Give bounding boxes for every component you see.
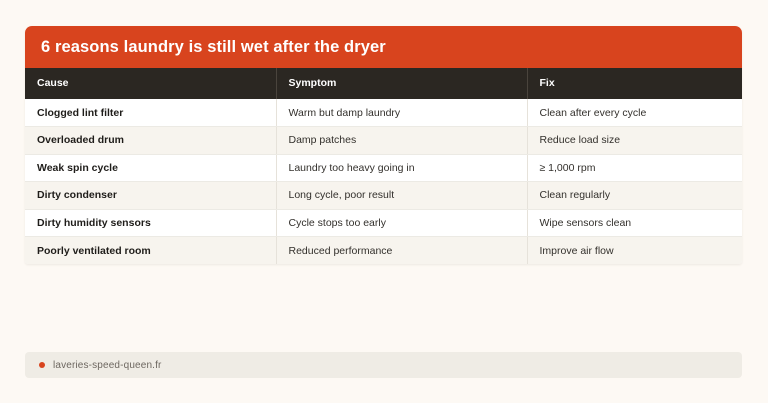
cell-cause: Clogged lint filter xyxy=(25,99,276,127)
cell-cause: Weak spin cycle xyxy=(25,154,276,182)
cell-fix: Clean regularly xyxy=(527,182,742,210)
cell-symptom: Laundry too heavy going in xyxy=(276,154,527,182)
table-row: Dirty condenser Long cycle, poor result … xyxy=(25,182,742,210)
table-row: Poorly ventilated room Reduced performan… xyxy=(25,237,742,265)
cell-fix: Reduce load size xyxy=(527,127,742,155)
bullet-dot-icon xyxy=(39,362,45,368)
column-header-fix: Fix xyxy=(527,68,742,99)
info-card: 6 reasons laundry is still wet after the… xyxy=(25,26,742,264)
cell-cause: Poorly ventilated room xyxy=(25,237,276,265)
cell-cause: Overloaded drum xyxy=(25,127,276,155)
table-row: Clogged lint filter Warm but damp laundr… xyxy=(25,99,742,127)
source-label: laveries-speed-queen.fr xyxy=(53,360,162,371)
cell-cause: Dirty condenser xyxy=(25,182,276,210)
cell-cause: Dirty humidity sensors xyxy=(25,209,276,237)
cell-symptom: Damp patches xyxy=(276,127,527,155)
table-header: Cause Symptom Fix xyxy=(25,68,742,99)
reasons-table: Cause Symptom Fix Clogged lint filter Wa… xyxy=(25,68,742,264)
cell-symptom: Long cycle, poor result xyxy=(276,182,527,210)
page-title: 6 reasons laundry is still wet after the… xyxy=(41,39,386,56)
table-row: Overloaded drum Damp patches Reduce load… xyxy=(25,127,742,155)
table-body: Clogged lint filter Warm but damp laundr… xyxy=(25,99,742,264)
table-row: Weak spin cycle Laundry too heavy going … xyxy=(25,154,742,182)
column-header-symptom: Symptom xyxy=(276,68,527,99)
page-root: 6 reasons laundry is still wet after the… xyxy=(0,0,768,403)
cell-fix: Wipe sensors clean xyxy=(527,209,742,237)
table-header-row: Cause Symptom Fix xyxy=(25,68,742,99)
card-title-bar: 6 reasons laundry is still wet after the… xyxy=(25,26,742,68)
table-row: Dirty humidity sensors Cycle stops too e… xyxy=(25,209,742,237)
cell-symptom: Cycle stops too early xyxy=(276,209,527,237)
cell-fix: ≥ 1,000 rpm xyxy=(527,154,742,182)
column-header-cause: Cause xyxy=(25,68,276,99)
cell-symptom: Reduced performance xyxy=(276,237,527,265)
cell-symptom: Warm but damp laundry xyxy=(276,99,527,127)
cell-fix: Clean after every cycle xyxy=(527,99,742,127)
cell-fix: Improve air flow xyxy=(527,237,742,265)
source-bar: laveries-speed-queen.fr xyxy=(25,352,742,378)
